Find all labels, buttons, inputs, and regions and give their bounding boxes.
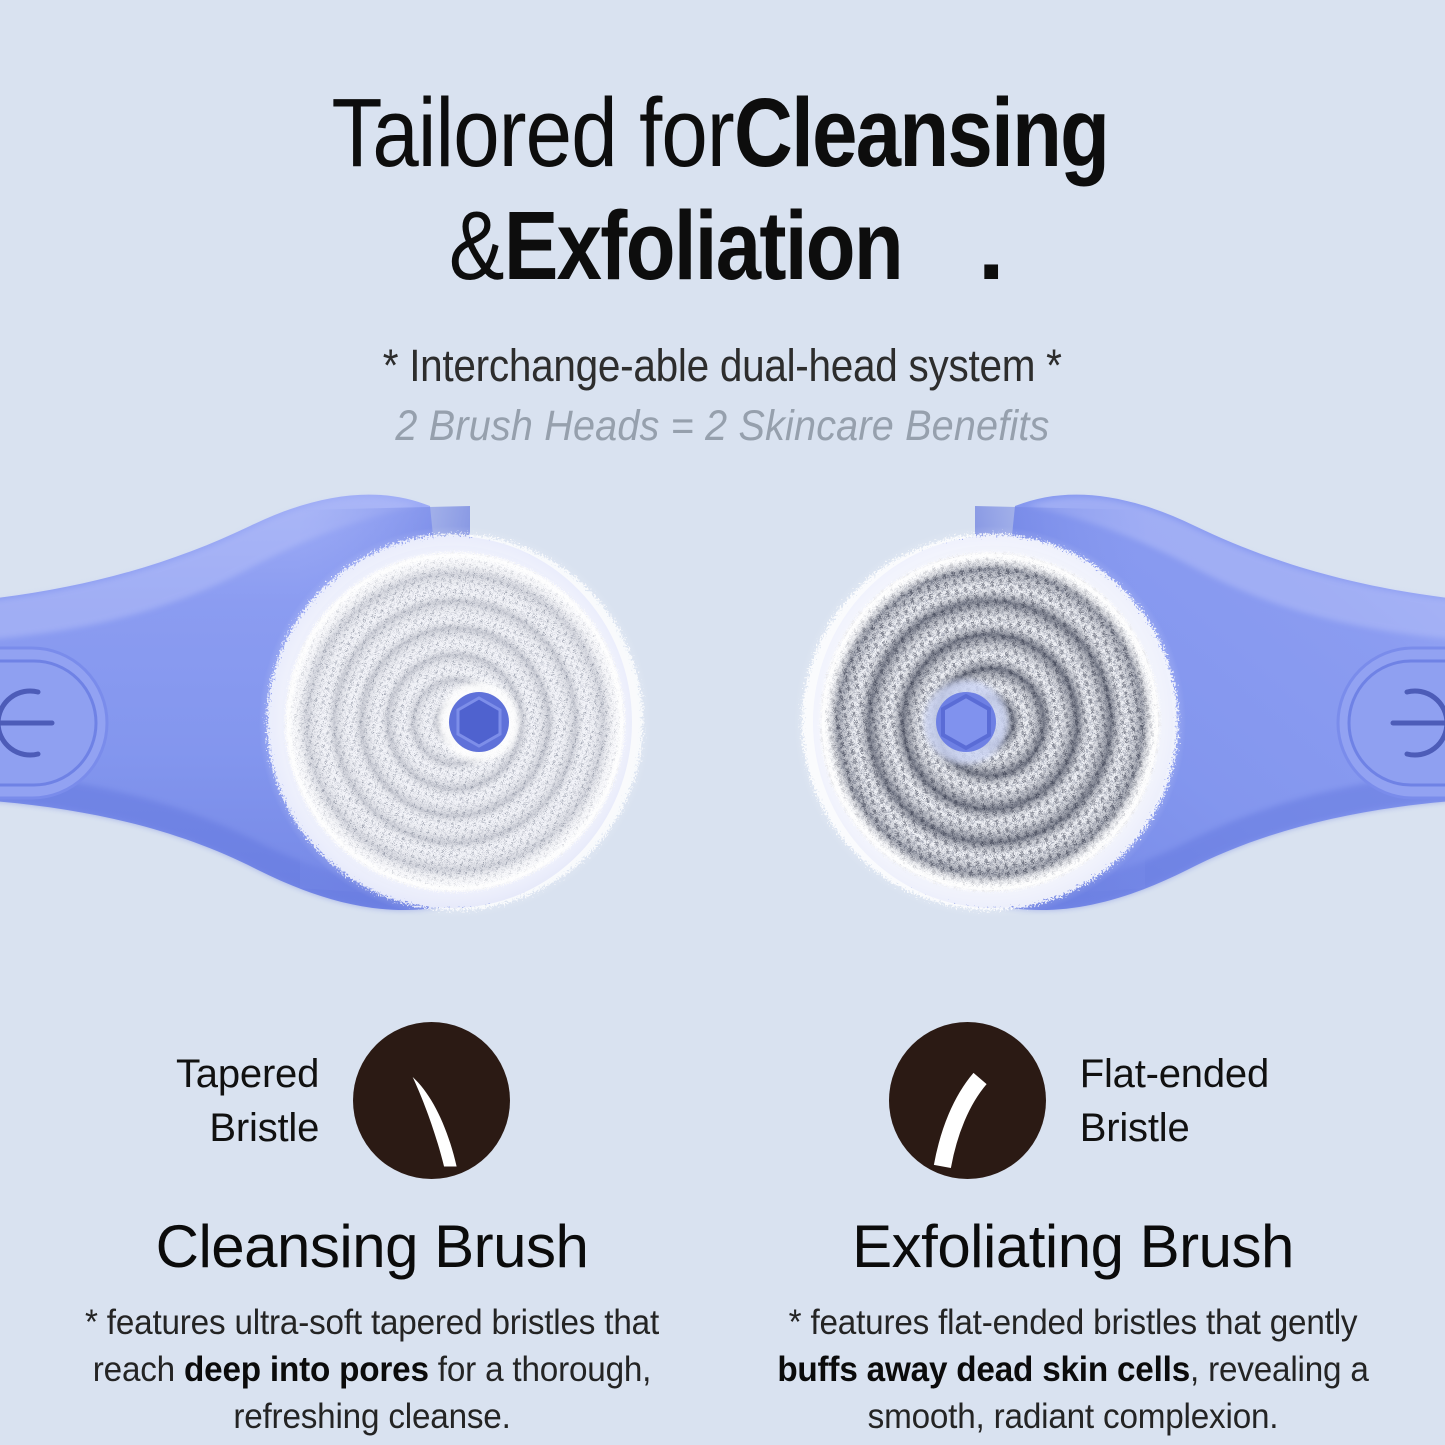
cleansing-brush-description: * features ultra-soft tapered bristles t…	[59, 1300, 686, 1441]
title-bold-exfoliation: Exfoliation	[504, 197, 902, 294]
product-photo-band	[0, 470, 1445, 970]
icon-disc	[353, 1022, 510, 1179]
subtitle-primary: * Interchange-able dual-head system *	[383, 340, 1062, 392]
infographic-page: Tailored for Cleansing & Exfoliation. * …	[0, 0, 1445, 1445]
product-illustration	[0, 470, 1445, 970]
flat-ended-bristle-icon	[889, 1022, 1046, 1179]
flat-ended-bristle-group: Flat-ended Bristle	[889, 1022, 1269, 1179]
exfoliating-bristle-head	[814, 546, 1166, 898]
flat-ended-bristle-label: Flat-ended Bristle	[1080, 1047, 1269, 1155]
desc-bold: buffs away dead skin cells	[777, 1350, 1190, 1389]
hex-hub-icon	[458, 698, 500, 746]
hex-hub-icon	[943, 696, 989, 748]
subtitle-primary-wrap: * Interchange-able dual-head system *	[0, 294, 1445, 392]
desc-bold: deep into pores	[184, 1350, 429, 1389]
tapered-bristle-icon	[353, 1022, 510, 1179]
exfoliating-brush-description: * features flat-ended bristles that gent…	[760, 1300, 1387, 1441]
title-period: .	[978, 191, 1005, 300]
title-bold-cleansing: Cleansing	[734, 84, 1108, 181]
header: Tailored for Cleansing & Exfoliation. * …	[0, 84, 1445, 451]
page-title-line-1: Tailored for Cleansing	[0, 84, 1445, 181]
tapered-bristle-label: Tapered Bristle	[176, 1047, 319, 1155]
cleansing-brush-column: Cleansing Brush * features ultra-soft ta…	[42, 1215, 702, 1441]
tapered-bristle-group: Tapered Bristle	[176, 1022, 510, 1179]
page-title-line-2: & Exfoliation.	[0, 197, 1445, 294]
bristle-icon-row: Tapered Bristle Flat-ended Bristle	[0, 1022, 1445, 1182]
exfoliating-brush-heading: Exfoliating Brush	[743, 1215, 1403, 1278]
exfoliating-brush-column: Exfoliating Brush * features flat-ended …	[743, 1215, 1403, 1441]
cleansing-brush-heading: Cleansing Brush	[42, 1215, 702, 1278]
desc-pre: * features flat-ended bristles that gent…	[789, 1303, 1358, 1342]
title-light-part: Tailored for	[331, 84, 733, 181]
title-ampersand: &	[449, 197, 504, 294]
cleansing-bristle-head	[279, 546, 631, 898]
subtitle-secondary-wrap: 2 Brush Heads = 2 Skincare Benefits	[0, 392, 1445, 451]
subtitle-secondary: 2 Brush Heads = 2 Skincare Benefits	[395, 402, 1049, 451]
